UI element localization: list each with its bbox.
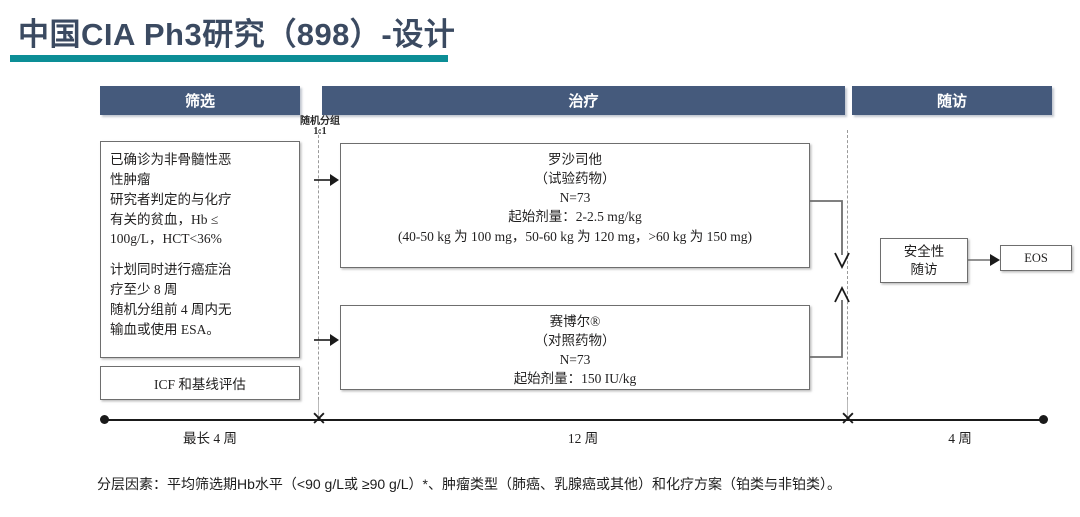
phase-header-treatment: 治疗 (322, 86, 845, 115)
slide-canvas: 中国CIA Ph3研究（898）-设计 筛选 治疗 随访 随机分组 1:1 已确… (0, 0, 1080, 517)
experimental-dose-detail: (40-50 kg 为 100 mg，50-60 kg 为 120 mg，>60… (349, 227, 801, 246)
control-drug-name: 赛博尔® (349, 312, 801, 331)
criteria-line-9: 输血或使用 ESA。 (110, 320, 290, 340)
control-drug-type: （对照药物） (349, 331, 801, 350)
treatment-arm-experimental-box: 罗沙司他 （试验药物） N=73 起始剂量：2-2.5 mg/kg (40-50… (340, 143, 810, 268)
timeline-label-treatment: 12 周 (488, 427, 678, 447)
criteria-line-8: 随机分组前 4 周内无 (110, 300, 290, 320)
timeline-axis (104, 419, 1044, 421)
stratification-footnote: 分层因素：平均筛选期Hb水平（<90 g/L或 ≥90 g/L）*、肿瘤类型（肺… (97, 474, 841, 494)
page-title: 中国CIA Ph3研究（898）-设计 (18, 9, 455, 54)
timeline-label-screening: 最长 4 周 (120, 427, 300, 447)
timeline-label-followup: 4 周 (880, 427, 1040, 447)
arrow-to-control-arm-icon (313, 330, 339, 350)
criteria-line-1: 已确诊为非骨髓性恶 (110, 150, 290, 170)
timeline-marker-randomization-icon: ✕ (311, 410, 327, 429)
criteria-line-2: 性肿瘤 (110, 170, 290, 190)
experimental-sample-size: N=73 (349, 188, 801, 207)
randomization-ratio: 1:1 (287, 127, 353, 137)
experimental-drug-type: （试验药物） (349, 169, 801, 188)
bracket-arrow-control-up-icon (810, 278, 854, 363)
criteria-spacer (110, 249, 290, 260)
criteria-line-5: 100g/L，HCT<36% (110, 229, 290, 249)
bracket-arrow-experimental-down-icon (810, 195, 854, 280)
experimental-starting-dose: 起始剂量：2-2.5 mg/kg (349, 207, 801, 226)
criteria-line-6: 计划同时进行癌症治 (110, 260, 290, 280)
experimental-drug-name: 罗沙司他 (349, 150, 801, 169)
arrow-to-eos-icon (968, 251, 1000, 269)
randomization-label: 随机分组 1:1 (287, 117, 353, 137)
safety-followup-box: 安全性 随访 (880, 238, 968, 283)
timeline-start-dot (100, 415, 109, 424)
arrow-to-experimental-arm-icon (313, 170, 339, 190)
safety-followup-line-2: 随访 (911, 261, 938, 279)
treatment-arm-control-box: 赛博尔® （对照药物） N=73 起始剂量：150 IU/kg (340, 305, 810, 390)
eligibility-criteria-box: 已确诊为非骨髓性恶 性肿瘤 研究者判定的与化疗 有关的贫血，Hb ≤ 100g/… (100, 141, 300, 358)
criteria-line-3: 研究者判定的与化疗 (110, 190, 290, 210)
icf-baseline-box: ICF 和基线评估 (100, 366, 300, 400)
timeline-marker-eot-icon: ✕ (840, 410, 856, 429)
criteria-line-7: 疗至少 8 周 (110, 280, 290, 300)
control-starting-dose: 起始剂量：150 IU/kg (349, 369, 801, 388)
title-underline-rule (10, 55, 448, 62)
phase-header-followup: 随访 (852, 86, 1052, 115)
timeline-end-dot (1039, 415, 1048, 424)
eos-box: EOS (1000, 245, 1072, 271)
safety-followup-line-1: 安全性 (904, 243, 945, 261)
control-sample-size: N=73 (349, 350, 801, 369)
phase-header-screening: 筛选 (100, 86, 300, 115)
criteria-line-4: 有关的贫血，Hb ≤ (110, 210, 290, 230)
